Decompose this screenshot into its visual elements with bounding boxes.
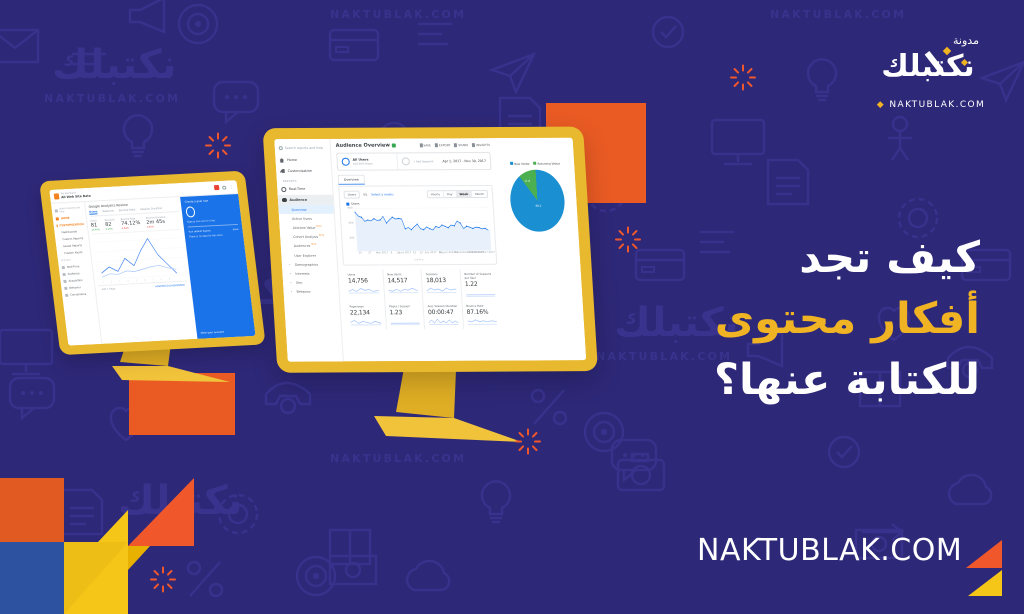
x-tick: August 2017 bbox=[439, 251, 455, 254]
monitor-large: Search reports and help Home Customizati… bbox=[263, 127, 598, 373]
share-button[interactable]: SHARE bbox=[454, 143, 468, 147]
insights-icon bbox=[472, 143, 475, 147]
segment-bar: All Users 100.00% Users + Add Segment Ap… bbox=[336, 152, 491, 171]
legend-new-visitor: New Visitor bbox=[510, 162, 529, 166]
metric-value: 22,134 bbox=[350, 309, 381, 316]
save-icon bbox=[419, 144, 422, 148]
small-dashboard-body: Search reports and help HOME CUSTOMIZATI… bbox=[51, 194, 256, 346]
metric-card-sessions: Sessions 18,013 bbox=[420, 269, 461, 301]
metric-sparkline bbox=[350, 317, 381, 325]
metric-value: 87.16% bbox=[466, 309, 496, 316]
visitor-type-pie-chart: 88.2 11.8 bbox=[509, 170, 567, 232]
legend-label-users: Users bbox=[351, 202, 359, 206]
decor-triangle-yellow-small bbox=[98, 510, 128, 542]
tab-overview[interactable]: Overview bbox=[338, 175, 366, 185]
decor-block-orange bbox=[0, 478, 64, 542]
headline: كيف تجد أفكار محتوى للكتابة عنها؟ bbox=[714, 228, 980, 411]
monitor-small-screen: My Site Name All Web Site Data ⋮ bbox=[49, 180, 255, 346]
tab-session-duration[interactable]: Session Duration bbox=[140, 207, 163, 212]
metric-sparkline bbox=[390, 317, 420, 325]
sparkle-icon bbox=[148, 555, 178, 585]
sidebar-subitem-overview[interactable]: Overview bbox=[278, 205, 334, 214]
x-tick: June 2017 bbox=[399, 251, 412, 254]
sidebar-item-behavior[interactable]: Behavior bbox=[283, 287, 339, 296]
person-icon bbox=[62, 273, 65, 276]
metric-label: Users bbox=[347, 272, 378, 276]
kpi-card: Users 81 13.40% bbox=[90, 219, 100, 231]
x-tick: 17 bbox=[368, 251, 371, 254]
add-segment-button[interactable]: + Add Segment bbox=[396, 153, 443, 169]
segment-ring-icon bbox=[341, 158, 350, 166]
metric-value: 1.23 bbox=[389, 309, 419, 316]
pie-label-new: 88.2 bbox=[536, 204, 542, 207]
svg-text:مدونة: مدونة bbox=[953, 34, 979, 47]
acquisition-icon bbox=[63, 280, 66, 283]
promo-body: There is no data for this view bbox=[189, 233, 239, 239]
metric-selector[interactable]: Users bbox=[343, 191, 360, 199]
sparkle-icon bbox=[200, 118, 236, 154]
watermark-arabic: نكتبلك bbox=[52, 42, 177, 88]
sidebar-label: Home bbox=[287, 158, 297, 162]
ga-toolbar: SAVE EXPORT SHARE INSIGHTS bbox=[419, 143, 490, 147]
svg-text:7: 7 bbox=[152, 279, 154, 281]
home-icon bbox=[279, 158, 284, 163]
headline-line-3: للكتابة عنها؟ bbox=[714, 350, 980, 411]
pie-label-returning: 11.8 bbox=[524, 180, 530, 183]
scale-hourly[interactable]: Hourly bbox=[428, 191, 444, 197]
clock-icon bbox=[281, 187, 286, 192]
account-avatar[interactable] bbox=[222, 185, 226, 189]
promo-sub: Signup now and it's free bbox=[187, 218, 237, 224]
x-tick: May 2017 bbox=[376, 251, 389, 254]
scale-week[interactable]: Week bbox=[455, 191, 471, 197]
x-tick: November 2017 bbox=[475, 251, 495, 254]
watermark-url: NAKTUBLAK.COM bbox=[330, 452, 466, 465]
kpi-card: Bounce Rate 74.12% 4.84% bbox=[121, 217, 142, 230]
small-dashboard-topbar-actions[interactable]: ⋮ bbox=[214, 184, 234, 190]
sidebar-item-audience[interactable]: Audience bbox=[278, 194, 334, 205]
metric-value: 00:00:47 bbox=[428, 309, 458, 316]
logo-mark: مدونة نكتبلك bbox=[866, 30, 996, 92]
metric-value: 14,756 bbox=[348, 277, 379, 284]
logo-diamond-icon: ◆ bbox=[877, 100, 885, 110]
sidebar-item-geo[interactable]: Geo bbox=[283, 278, 339, 287]
kpi-card: Session Duration 2m 45s 0.92% bbox=[146, 216, 167, 229]
sidebar-item-interests[interactable]: Interests bbox=[282, 269, 338, 278]
ga-right-panel: New Visitor Returning Visitor 88.2 11.8 bbox=[495, 138, 587, 361]
add-segment-label: + Add Segment bbox=[413, 160, 434, 163]
decor-triangle-yellow-accent bbox=[128, 546, 150, 570]
google-analytics-dashboard: Search reports and help Home Customizati… bbox=[274, 138, 586, 362]
small-sidebar-item-conversions[interactable]: Conversions bbox=[62, 290, 96, 299]
metric-card-pageviews: Pageviews 22,134 bbox=[345, 301, 385, 329]
insights-button[interactable]: INSIGHTS bbox=[472, 143, 490, 147]
svg-text:6: 6 bbox=[144, 280, 146, 282]
metric-label: Avg. Session Duration bbox=[428, 304, 458, 308]
small-dashboard-account[interactable]: My Site Name All Web Site Data bbox=[54, 191, 91, 200]
export-icon bbox=[435, 144, 438, 148]
sparkle-icon bbox=[610, 212, 646, 248]
ga-main: Audience Overview SAVE EXPORT SHARE INSI… bbox=[330, 138, 508, 361]
search-input[interactable]: Search reports and help bbox=[274, 142, 330, 155]
tab-users[interactable]: Users bbox=[89, 210, 98, 214]
sidebar-subitem-cohort-analysis[interactable]: Cohort AnalysisBETA bbox=[280, 232, 336, 242]
x-tick: 12 bbox=[413, 251, 416, 254]
metric-card-users: Users 14,756 bbox=[343, 269, 384, 301]
x-tick: 8 bbox=[391, 251, 393, 254]
sidebar-item-realtime[interactable]: Real-Time bbox=[277, 184, 333, 195]
conversions-icon bbox=[65, 294, 68, 297]
metric-sparkline bbox=[467, 317, 497, 325]
metric-value: 14,517 bbox=[387, 277, 417, 284]
metric-value: 1.22 bbox=[465, 281, 495, 288]
monitor-large-bezel: Search reports and help Home Customizati… bbox=[263, 127, 598, 373]
sidebar-label: Real-Time bbox=[289, 187, 306, 191]
sidebar-item-customization[interactable]: Customization bbox=[276, 165, 332, 176]
monitor-small: My Site Name All Web Site Data ⋮ bbox=[39, 171, 266, 355]
metric-sparkline bbox=[426, 285, 456, 293]
metric-label: Pages / Session bbox=[389, 304, 419, 308]
sidebar-subitem-audiences[interactable]: AudiencesBETA bbox=[280, 242, 336, 252]
metric-label: Pageviews bbox=[349, 304, 380, 308]
x-tick: July 2017 bbox=[425, 251, 437, 254]
x-tick: 19 bbox=[420, 251, 423, 254]
more-icon[interactable]: ⋮ bbox=[229, 184, 234, 189]
legend-swatch-new bbox=[510, 162, 513, 165]
kpi-delta: 9.15% bbox=[106, 227, 116, 231]
footer-right-link[interactable]: ADVANCED DASHBOARD bbox=[155, 284, 185, 289]
svg-text:9: 9 bbox=[169, 278, 171, 280]
search-icon bbox=[55, 209, 58, 212]
beta-badge: BETA bbox=[316, 226, 321, 228]
footer-url: NAKTUBLAK.COM bbox=[697, 533, 962, 568]
sidebar-subitem-active-users[interactable]: Active Users bbox=[279, 214, 335, 223]
x-axis-label: Loading... bbox=[414, 258, 426, 261]
headline-line-1: كيف تجد bbox=[714, 228, 980, 289]
legend-swatch-users bbox=[346, 202, 349, 205]
time-scale-toggle[interactable]: Hourly Day Week Month bbox=[426, 190, 488, 198]
metric-card-avg-session-duration: Avg. Session Duration 00:00:47 bbox=[422, 301, 462, 329]
alert-icon[interactable] bbox=[214, 185, 220, 190]
svg-text:8: 8 bbox=[161, 279, 163, 281]
sparkle-icon bbox=[512, 416, 544, 448]
date-range-picker[interactable]: Apr 1, 2017 - Nov 30, 2017 bbox=[442, 159, 490, 163]
y-tick: 600 bbox=[348, 207, 353, 210]
svg-text:2: 2 bbox=[111, 281, 113, 283]
small-dashboard-chart: 123 456 789 bbox=[92, 229, 187, 285]
select-metric-link[interactable]: Select a metric bbox=[371, 192, 394, 196]
sidebar-item-home[interactable]: Home bbox=[275, 155, 331, 166]
segment-name: All Users bbox=[352, 158, 372, 162]
metric-card-pages-per-session: Pages / Session 1.23 bbox=[384, 301, 424, 329]
small-dashboard-main: Google Analytics Review Users Sessions B… bbox=[85, 197, 198, 344]
metric-sparkline bbox=[465, 289, 495, 297]
sidebar-label: Audience bbox=[289, 198, 307, 202]
legend-returning-visitor: Returning Visitor bbox=[533, 162, 560, 166]
promo-link[interactable]: Save bbox=[233, 228, 239, 231]
chart-plot-area bbox=[353, 206, 491, 252]
headline-line-2: أفكار محتوى bbox=[714, 289, 980, 350]
small-line-chart: 123 456 789 bbox=[92, 230, 187, 285]
promo-footer-link[interactable]: View your account bbox=[201, 329, 251, 335]
person-icon bbox=[282, 197, 287, 202]
watermark-url: NAKTUBLAK.COM bbox=[770, 8, 906, 21]
sidebar-subitem-user-explorer[interactable]: User Explorer bbox=[281, 251, 337, 260]
kpi-delta: 4.84% bbox=[122, 226, 141, 230]
scale-day[interactable]: Day bbox=[443, 191, 456, 197]
sidebar-subitem-lifetime-value[interactable]: Lifetime ValueBETA bbox=[279, 223, 335, 233]
segment-all-users[interactable]: All Users 100.00% Users bbox=[337, 153, 397, 169]
chart-card: Users VS. Select a metric Hourly Day Wee… bbox=[338, 185, 497, 266]
metric-grid: Users 14,756 New Users 14,517 Sessions 1… bbox=[343, 269, 501, 330]
metric-label: Bounce Rate bbox=[466, 304, 496, 308]
sidebar-label: Customization bbox=[288, 169, 313, 173]
chart-controls: Users VS. Select a metric Hourly Day Wee… bbox=[343, 190, 488, 199]
logo-url: ◆ NAKTUBLAK.COM bbox=[866, 100, 996, 110]
export-button[interactable]: EXPORT bbox=[435, 143, 451, 147]
search-icon bbox=[279, 146, 283, 150]
footer-left-label[interactable]: Add 1 Page bbox=[102, 287, 116, 291]
behavior-icon bbox=[64, 287, 67, 290]
svg-text:1: 1 bbox=[103, 282, 105, 284]
home-icon bbox=[56, 217, 59, 220]
users-series-svg bbox=[353, 206, 491, 252]
page-title-text: Audience Overview bbox=[336, 143, 391, 149]
promo-divider bbox=[188, 224, 238, 228]
x-tick: 10 bbox=[359, 252, 362, 255]
sparkle-icon bbox=[725, 50, 761, 86]
decor-block-blue bbox=[0, 542, 64, 614]
search-placeholder: Search reports and help bbox=[285, 146, 324, 150]
metric-card-bounce-rate: Bounce Rate 87.16% bbox=[461, 301, 501, 329]
metric-label: Sessions bbox=[426, 272, 456, 276]
clock-icon bbox=[62, 266, 65, 269]
analytics-logo-icon bbox=[54, 193, 60, 199]
metric-value: 18,013 bbox=[426, 277, 456, 284]
vs-label: VS. bbox=[363, 193, 368, 197]
promo-label: Your default figures bbox=[188, 229, 211, 233]
metric-label: Number of Sessions per User bbox=[464, 272, 494, 280]
add-segment-ring-icon bbox=[402, 157, 411, 165]
beta-badge: BETA bbox=[319, 235, 324, 237]
kpi-card: Sessions 82 9.15% bbox=[105, 218, 116, 230]
svg-text:3: 3 bbox=[119, 281, 121, 283]
kpi-delta: 13.40% bbox=[91, 228, 100, 231]
sidebar-item-demographics[interactable]: Demographics bbox=[282, 260, 338, 269]
chart-legend: Users bbox=[346, 201, 488, 206]
metric-sparkline bbox=[428, 317, 458, 325]
decor-triangle-yellow-diagonal bbox=[64, 542, 128, 614]
share-icon bbox=[454, 143, 457, 147]
scale-month[interactable]: Month bbox=[471, 191, 487, 197]
small-dashboard: My Site Name All Web Site Data ⋮ bbox=[49, 180, 255, 346]
y-tick: 400 bbox=[348, 222, 353, 225]
tab-bounce-rate[interactable]: Bounce Rate bbox=[119, 208, 136, 213]
watermark-url: NAKTUBLAK.COM bbox=[596, 350, 732, 363]
metric-sparkline bbox=[388, 285, 418, 293]
promo-title: Create a goal now bbox=[185, 198, 235, 204]
watermark-url: NAKTUBLAK.COM bbox=[44, 92, 180, 105]
users-line-chart: 600 400 200 bbox=[344, 206, 492, 261]
tab-sessions[interactable]: Sessions bbox=[102, 209, 114, 214]
monitor-large-screen: Search reports and help Home Customizati… bbox=[274, 138, 586, 362]
footer-logo-mark bbox=[962, 538, 1006, 598]
save-button[interactable]: SAVE bbox=[419, 143, 431, 147]
metric-sparkline bbox=[348, 285, 379, 293]
segment-sub: 100.00% Users bbox=[353, 163, 373, 166]
svg-text:4: 4 bbox=[128, 280, 130, 282]
y-tick: 200 bbox=[349, 237, 354, 240]
metric-card-sessions-per-user: Number of Sessions per User 1.22 bbox=[459, 269, 500, 301]
realtime-indicator-icon bbox=[392, 144, 396, 148]
promo-ring-icon bbox=[185, 206, 195, 217]
ga-header: Audience Overview SAVE EXPORT SHARE INSI… bbox=[336, 142, 491, 149]
beta-badge: BETA bbox=[311, 244, 316, 246]
page-title: Audience Overview bbox=[336, 143, 396, 149]
metric-label: New Users bbox=[387, 272, 417, 276]
sidebar-section-reports: REPORTS bbox=[276, 176, 332, 184]
pie-legend: New Visitor Returning Visitor bbox=[500, 162, 570, 166]
decor-triangle-orange-large bbox=[128, 478, 194, 546]
sidebar-section-label: REPORTS bbox=[283, 180, 297, 183]
customization-icon bbox=[280, 169, 285, 174]
svg-text:5: 5 bbox=[136, 280, 138, 282]
account-label: All Web Site Data bbox=[61, 194, 91, 200]
customization-icon bbox=[56, 224, 57, 227]
monitor-small-bezel: My Site Name All Web Site Data ⋮ bbox=[39, 171, 266, 355]
kpi-delta: 0.92% bbox=[147, 225, 167, 229]
brand-logo: مدونة نكتبلك ◆ NAKTUBLAK.COM bbox=[866, 30, 996, 110]
metric-card-new-users: New Users 14,517 bbox=[382, 269, 423, 301]
watermark-url: NAKTUBLAK.COM bbox=[330, 8, 466, 21]
